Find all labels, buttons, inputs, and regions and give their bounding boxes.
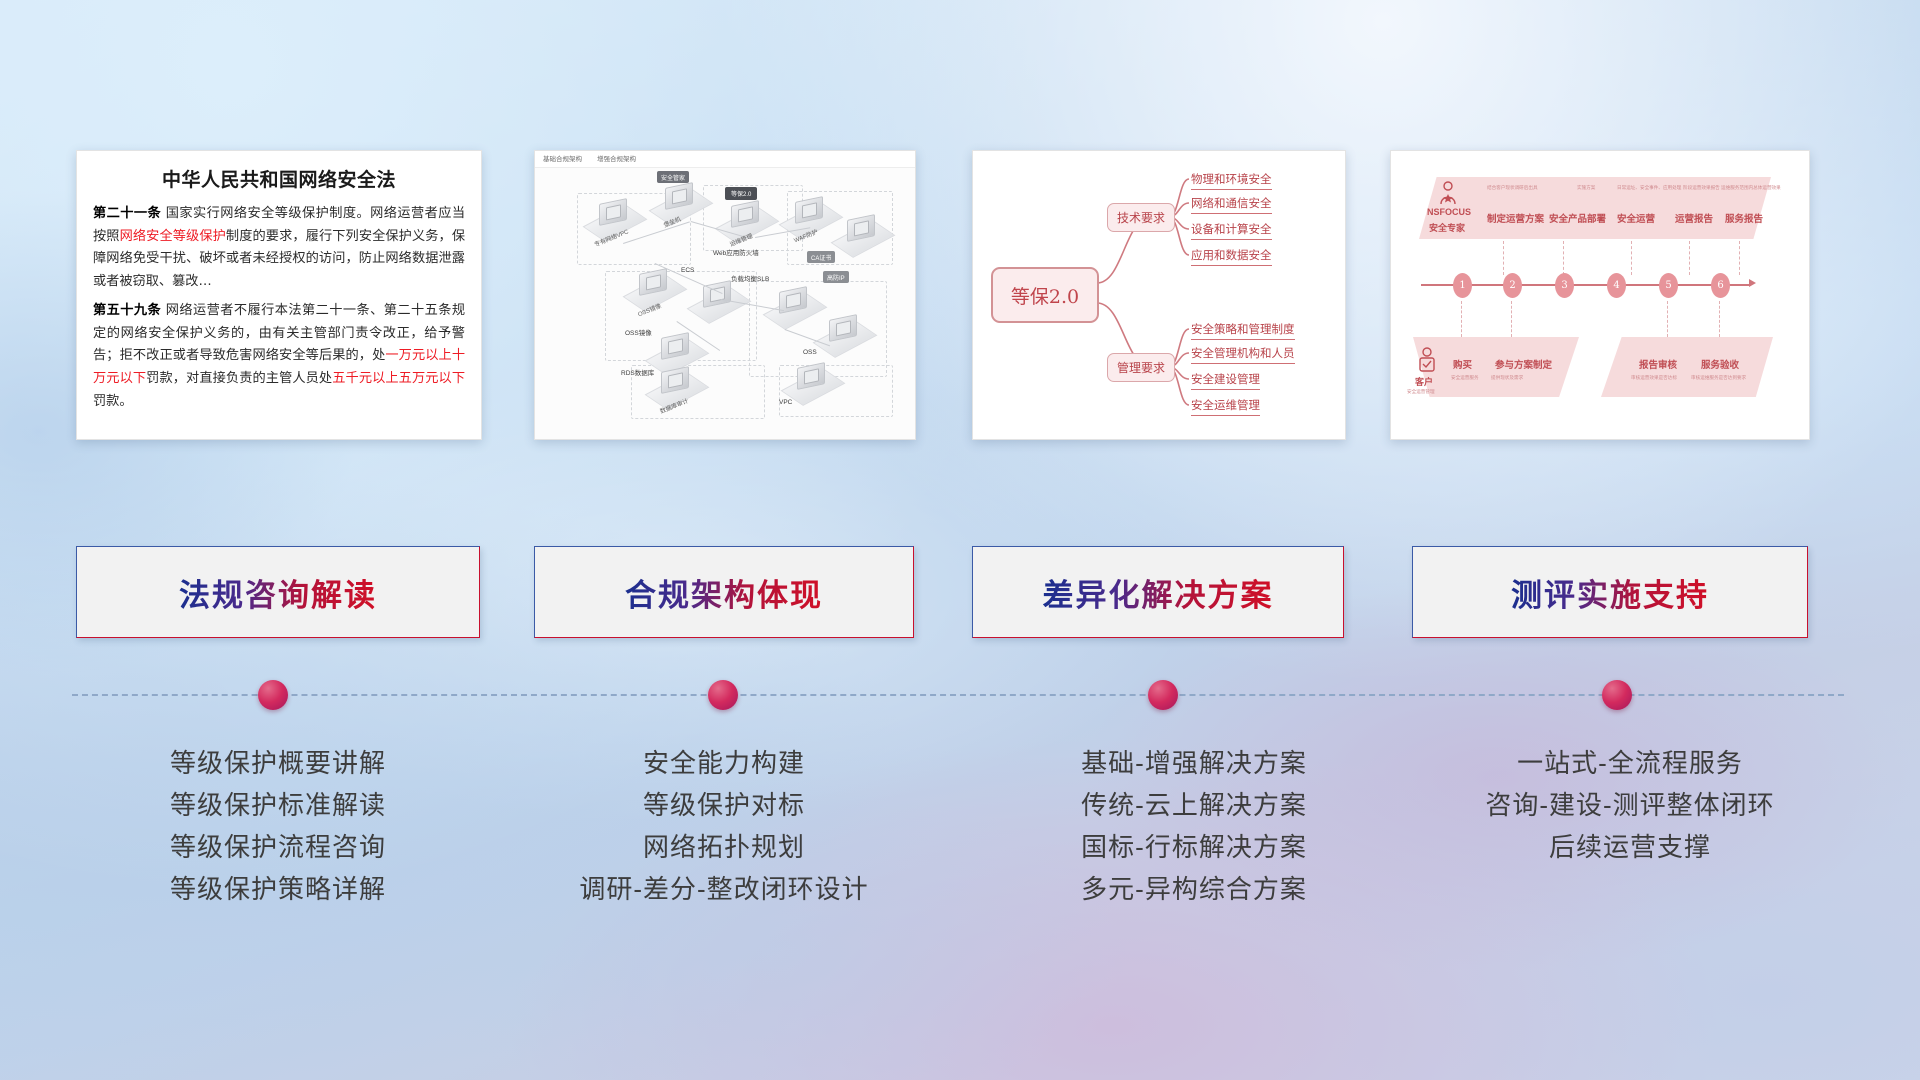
mindmap-leaf-device: 设备和计算安全 (1191, 221, 1272, 240)
arch-tab-enhanced[interactable]: 增强合规架构 (597, 153, 636, 163)
list-item: 传统-云上解决方案 (970, 784, 1418, 826)
roadmap-top-sub-5: 运维服务范围内总体运营效果 (1721, 185, 1781, 191)
mindmap-leaf-policy: 安全策略和管理制度 (1191, 321, 1295, 340)
thumbnail-card-mindmap[interactable]: 等保2.0 技术要求 管理要求 物理和环境安全 网络和通信安全 设备和计算安全 … (972, 150, 1346, 440)
roadmap-top-step-1: 制定运营方案 (1487, 211, 1544, 225)
roadmap-brand-sub: 安全专家 (1429, 221, 1465, 234)
roadmap-top-sub-1: 结合客户现状调研后出具 (1487, 185, 1538, 191)
arch-text-oss: OSS (803, 349, 817, 356)
list-item: 等级保护策略详解 (76, 868, 480, 910)
thumbnail-card-architecture[interactable]: 基础合规架构 增强合规架构 等保2.0 (534, 150, 916, 440)
heading-row: 法规咨询解读 合规架构体现 差异化解决方案 测评实施支持 (0, 546, 1920, 640)
law-title: 中华人民共和国网络安全法 (93, 165, 465, 192)
list-item: 网络拓扑规划 (500, 826, 948, 868)
list-row: 等级保护概要讲解 等级保护标准解读 等级保护流程咨询 等级保护策略详解 安全能力… (0, 742, 1920, 1042)
list-item: 基础-增强解决方案 (970, 742, 1418, 784)
list-column-solution: 基础-增强解决方案 传统-云上解决方案 国标-行标解决方案 多元-异构综合方案 (970, 742, 1418, 910)
roadmap-top-sub-3: 日常运址、安全事件、应用处理 (1617, 185, 1681, 191)
roadmap-brand: NSFOCUS (1427, 207, 1471, 217)
law-59-tail: 罚款。 (93, 394, 133, 409)
heading-label-2: 合规架构体现 (625, 570, 823, 615)
law-21-highlight: 网络安全等级保护 (120, 229, 226, 244)
thumbnail-card-law[interactable]: 中华人民共和国网络安全法 第二十一条 国家实行网络安全等级保护制度。网络运营者应… (76, 150, 482, 440)
list-column-architecture: 安全能力构建 等级保护对标 网络拓扑规划 调研-差分-整改闭环设计 (500, 742, 948, 910)
arch-text-oss-img: OSS镜像 (625, 327, 652, 337)
roadmap-bottom-sub-4: 审核运维服务是否达到要求 (1691, 375, 1746, 381)
roadmap-top-step-2: 安全产品部署 (1549, 211, 1606, 225)
law-article-59: 第五十九条 (93, 303, 161, 318)
arch-chip-security: 安全管家 (657, 171, 689, 183)
arch-tab-basic[interactable]: 基础合规架构 (543, 153, 582, 163)
thumbnail-row: 中华人民共和国网络安全法 第二十一条 国家实行网络安全等级保护制度。网络运营者应… (0, 150, 1920, 450)
list-item: 等级保护标准解读 (76, 784, 480, 826)
arch-text-slb: 负载均衡SLB (731, 273, 769, 283)
roadmap-bottom-step-2: 参与方案制定 (1495, 357, 1552, 371)
law-article-21: 第二十一条 (93, 206, 161, 221)
mindmap-leaf-physical: 物理和环境安全 (1191, 171, 1272, 190)
heading-box-assessment[interactable]: 测评实施支持 (1412, 546, 1808, 638)
roadmap-bottom-sub-2: 提供现状及需求 (1491, 375, 1523, 381)
mindmap-branch-management: 管理要求 (1107, 353, 1175, 382)
customer-person-icon (1417, 347, 1437, 373)
heading-label-3: 差异化解决方案 (1043, 570, 1274, 615)
roadmap-step-pill-6: 6 (1711, 273, 1730, 298)
roadmap-top-step-3: 安全运营 (1617, 211, 1655, 225)
roadmap-bottom-step-4: 服务验收 (1701, 357, 1739, 371)
mindmap-leaf-app: 应用和数据安全 (1191, 247, 1272, 266)
timeline-track (72, 694, 1844, 698)
roadmap-top-step-5: 服务报告 (1725, 211, 1763, 225)
mindmap-root: 等保2.0 (991, 267, 1099, 323)
roadmap-step-pill-3: 3 (1555, 273, 1574, 298)
law-paragraph-59: 第五十九条 网络运营者不履行本法第二十一条、第二十五条规定的网络安全保护义务的，… (93, 300, 465, 414)
law-59-highlight-2: 五千元以上五万元以下 (332, 371, 465, 386)
arch-chip-antiddos: 高防IP (823, 271, 849, 283)
list-column-regulation: 等级保护概要讲解 等级保护标准解读 等级保护流程咨询 等级保护策略详解 (76, 742, 480, 910)
mindmap-leaf-build: 安全建设管理 (1191, 371, 1260, 390)
timeline-dot-4[interactable] (1602, 680, 1632, 710)
arch-text-ecs: ECS (681, 267, 694, 274)
roadmap-arrow-icon (1749, 279, 1756, 287)
roadmap-step-pill-1: 1 (1453, 273, 1472, 298)
heading-box-regulation[interactable]: 法规咨询解读 (76, 546, 480, 638)
mindmap-leaf-ops: 安全运维管理 (1191, 397, 1260, 416)
roadmap-top-sub-4: 阶段运营效果报告 (1683, 185, 1720, 191)
list-item: 一站式-全流程服务 (1420, 742, 1840, 784)
roadmap-bottom-sub-1: 安全运营服务 (1451, 375, 1479, 381)
arch-text-rds: RDS数据库 (621, 367, 654, 377)
arch-chip-ca: CA证书 (807, 251, 835, 263)
roadmap-bottom-step-1: 购买 (1453, 357, 1472, 371)
heading-box-solution[interactable]: 差异化解决方案 (972, 546, 1344, 638)
list-item: 调研-差分-整改闭环设计 (500, 868, 948, 910)
mindmap-branch-technical: 技术要求 (1107, 203, 1175, 232)
arch-text-vpc: VPC (779, 399, 792, 406)
heading-label-1: 法规咨询解读 (179, 570, 377, 615)
list-item: 咨询-建设-测评整体闭环 (1420, 784, 1840, 826)
heading-box-architecture[interactable]: 合规架构体现 (534, 546, 914, 638)
mindmap-leaf-org: 安全管理机构和人员 (1191, 345, 1295, 364)
roadmap-step-pill-4: 4 (1607, 273, 1626, 298)
arch-badge: 等保2.0 (725, 187, 757, 200)
roadmap-step-pill-2: 2 (1503, 273, 1522, 298)
list-item: 等级保护对标 (500, 784, 948, 826)
list-item: 国标-行标解决方案 (970, 826, 1418, 868)
timeline-dot-2[interactable] (708, 680, 738, 710)
expert-person-icon (1437, 181, 1459, 205)
list-item: 安全能力构建 (500, 742, 948, 784)
roadmap-top-sub-2: 实施方案 (1577, 185, 1595, 191)
list-item: 等级保护概要讲解 (76, 742, 480, 784)
law-59-mid: 罚款，对直接负责的主管人员处 (146, 371, 332, 386)
mindmap-leaf-network: 网络和通信安全 (1191, 195, 1272, 214)
roadmap-top-step-4: 运营报告 (1675, 211, 1713, 225)
timeline-dot-3[interactable] (1148, 680, 1178, 710)
roadmap-bottom-sub-3: 审核运营效果是否达标 (1631, 375, 1677, 381)
roadmap-customer-sub: 安全运营管理 (1407, 389, 1435, 395)
list-item: 多元-异构综合方案 (970, 868, 1418, 910)
heading-label-4: 测评实施支持 (1511, 570, 1709, 615)
list-item: 后续运营支撑 (1420, 826, 1840, 868)
arch-text-waf: Web应用防火墙 (713, 247, 759, 257)
roadmap-customer: 客户 (1415, 375, 1433, 388)
roadmap-band-bottom-right (1601, 337, 1773, 397)
law-paragraph-21: 第二十一条 国家实行网络安全等级保护制度。网络运营者应当按照网络安全等级保护制度… (93, 203, 465, 294)
list-column-assessment: 一站式-全流程服务 咨询-建设-测评整体闭环 后续运营支撑 (1420, 742, 1840, 868)
arch-tabbar (535, 151, 915, 168)
list-item: 等级保护流程咨询 (76, 826, 480, 868)
roadmap-step-pill-5: 5 (1659, 273, 1678, 298)
thumbnail-card-roadmap[interactable]: NSFOCUS 安全专家 结合客户现状调研后出具 实施方案 日常运址、安全事件、… (1390, 150, 1810, 440)
timeline-dot-1[interactable] (258, 680, 288, 710)
roadmap-bottom-step-3: 报告审核 (1639, 357, 1677, 371)
